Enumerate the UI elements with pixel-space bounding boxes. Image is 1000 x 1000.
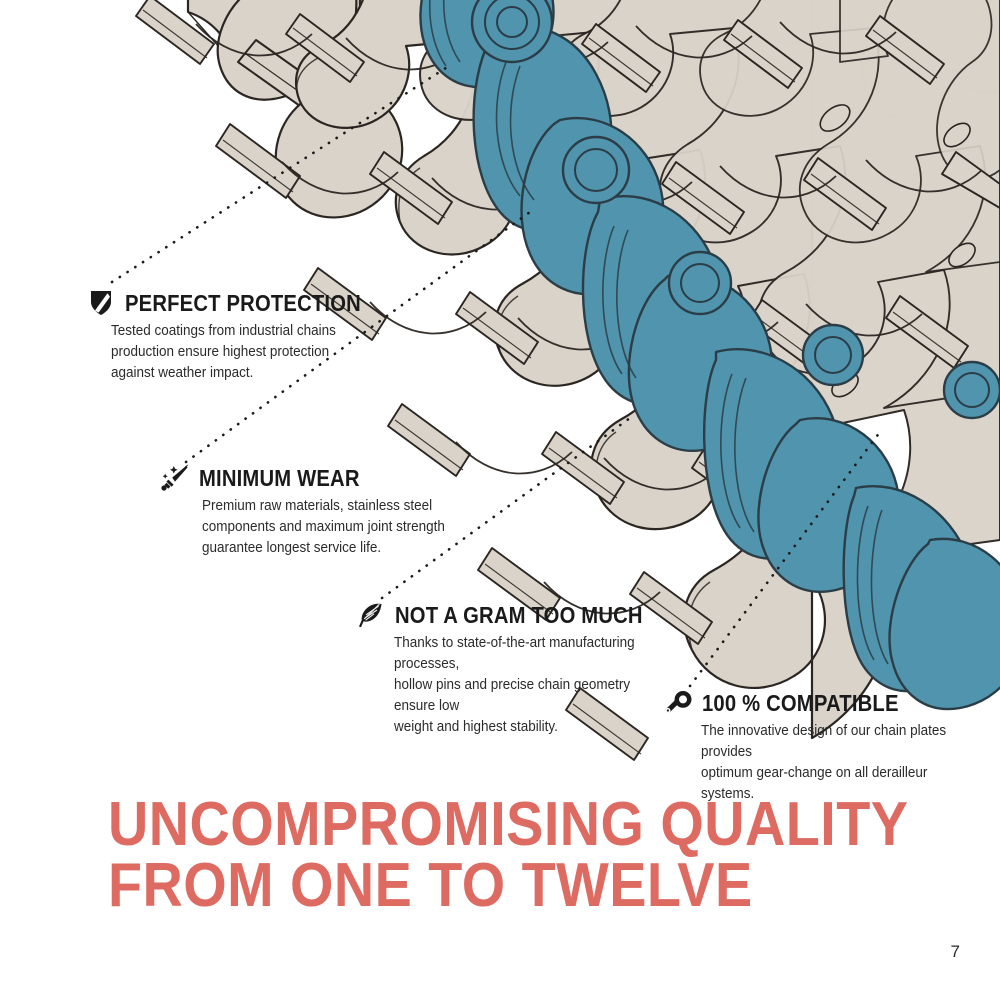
callout-header: 100 % COMPATIBLE (663, 688, 993, 718)
callout-body: Premium raw materials, stainless steel c… (202, 496, 470, 559)
pin-relief-details (683, 100, 979, 408)
callout-header: PERFECT PROTECTION (86, 288, 416, 318)
callout-title: PERFECT PROTECTION (125, 292, 361, 315)
dagger-icon (160, 463, 190, 493)
callout-not-a-gram-too-much: NOT A GRAM TOO MUCH Thanks to state-of-t… (356, 600, 696, 738)
callout-header: NOT A GRAM TOO MUCH (356, 600, 696, 630)
callout-title: MINIMUM WEAR (199, 467, 360, 490)
callout-minimum-wear: MINIMUM WEAR Premium raw materials, stai… (160, 463, 490, 559)
callout-header: MINIMUM WEAR (160, 463, 490, 493)
page-root: PERFECT PROTECTION Tested coatings from … (0, 0, 1000, 1000)
page-number: 7 (951, 942, 960, 962)
callout-100-percent-compatible: 100 % COMPATIBLE The innovative design o… (663, 688, 993, 805)
chain-inner-plates (430, 0, 888, 664)
callout-body: Thanks to state-of-the-art manufacturing… (394, 633, 675, 738)
headline-line-1: UNCOMPROMISING QUALITY (108, 795, 828, 856)
feather-icon (356, 600, 386, 630)
chain-link-icon (663, 688, 693, 718)
leader-protection (112, 64, 452, 282)
leader-compatible (690, 432, 880, 686)
chain-pins (472, 0, 1000, 418)
sprocket-ring-A (188, 0, 360, 70)
callout-perfect-protection: PERFECT PROTECTION Tested coatings from … (86, 288, 416, 384)
shield-icon (86, 288, 116, 318)
callout-title: NOT A GRAM TOO MUCH (395, 604, 643, 627)
headline: UNCOMPROMISING QUALITY FROM ONE TO TWELV… (108, 795, 908, 917)
callout-title: 100 % COMPATIBLE (702, 692, 899, 715)
callout-body: Tested coatings from industrial chains p… (111, 321, 395, 384)
headline-line-2: FROM ONE TO TWELVE (108, 856, 828, 917)
